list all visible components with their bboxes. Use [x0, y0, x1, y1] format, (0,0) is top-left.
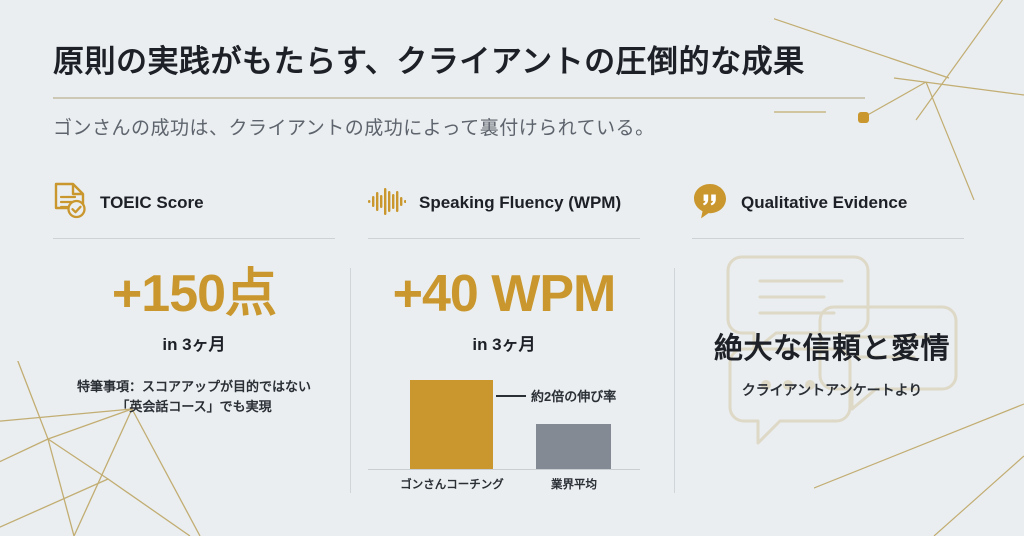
columns-container: TOEIC Score +150点 in 3ヶ月 特筆事項：スコアアップが目的で…	[0, 180, 1024, 510]
slide-root: 原則の実践がもたらす、クライアントの圧倒的な成果 ゴンさんの成功は、クライアント…	[0, 0, 1024, 536]
bar-label-industry-average: 業界平均	[524, 476, 624, 492]
column-header-rule-2	[368, 238, 640, 239]
column-toeic-score: TOEIC Score +150点 in 3ヶ月 特筆事項：スコアアップが目的で…	[53, 180, 335, 510]
stat-note-line-2: 「英会話コース」でも実現	[53, 397, 335, 418]
stat-block-fluency: +40 WPM in 3ヶ月	[368, 267, 640, 355]
decoration-node-dot	[858, 112, 869, 123]
page-subtitle: ゴンさんの成功は、クライアントの成功によって裏付けられている。	[53, 113, 655, 140]
column-header-label-qualitative: Qualitative Evidence	[741, 193, 907, 213]
qualitative-text-block: 絶大な信頼と愛情 クライアントアンケートより	[692, 325, 972, 400]
stat-period-fluency: in 3ヶ月	[368, 330, 640, 355]
qualitative-source: クライアントアンケートより	[692, 380, 972, 400]
column-header-label-fluency: Speaking Fluency (WPM)	[419, 193, 621, 213]
bar-industry-average	[536, 424, 611, 469]
column-header-rule-1	[53, 238, 335, 239]
column-qualitative-evidence: Qualitative Evidence	[692, 180, 982, 510]
stat-note-toeic: 特筆事項：スコアアップが目的ではない 「英会話コース」でも実現	[53, 377, 335, 419]
column-divider-2	[674, 268, 675, 493]
bar-label-gon-coaching: ゴンさんコーチング	[378, 476, 526, 492]
page-title: 原則の実践がもたらす、クライアントの圧倒的な成果	[53, 36, 805, 81]
column-header-fluency: Speaking Fluency (WPM)	[368, 180, 658, 226]
stat-note-line-1: 特筆事項：スコアアップが目的ではない	[53, 377, 335, 398]
stat-value-toeic: +150点	[53, 267, 335, 322]
qualitative-body: 絶大な信頼と愛情 クライアントアンケートより	[692, 267, 964, 477]
column-speaking-fluency: Speaking Fluency (WPM) +40 WPM in 3ヶ月 約2…	[368, 180, 658, 510]
bar-gon-coaching	[410, 380, 493, 469]
column-header-label-toeic: TOEIC Score	[100, 193, 204, 213]
column-header-toeic: TOEIC Score	[53, 180, 335, 226]
document-check-icon	[53, 182, 87, 225]
stat-period-toeic: in 3ヶ月	[53, 330, 335, 355]
audio-waveform-icon	[368, 186, 406, 221]
column-divider-1	[350, 268, 351, 493]
decoration-top-right	[774, 0, 1024, 200]
bar-chart-fluency: 約2倍の伸び率 ゴンさんコーチング 業界平均	[368, 369, 640, 494]
title-divider	[53, 97, 865, 99]
chart-baseline	[368, 469, 640, 470]
qualitative-headline: 絶大な信頼と愛情	[692, 325, 972, 367]
quote-bubble-icon	[692, 182, 728, 225]
stat-block-toeic: +150点 in 3ヶ月 特筆事項：スコアアップが目的ではない 「英会話コース」…	[53, 267, 335, 418]
column-header-rule-3	[692, 238, 964, 239]
column-header-qualitative: Qualitative Evidence	[692, 180, 982, 226]
chart-annotation: 約2倍の伸び率	[531, 386, 616, 405]
stat-value-fluency: +40 WPM	[368, 267, 640, 322]
annotation-leader-line	[496, 395, 526, 397]
